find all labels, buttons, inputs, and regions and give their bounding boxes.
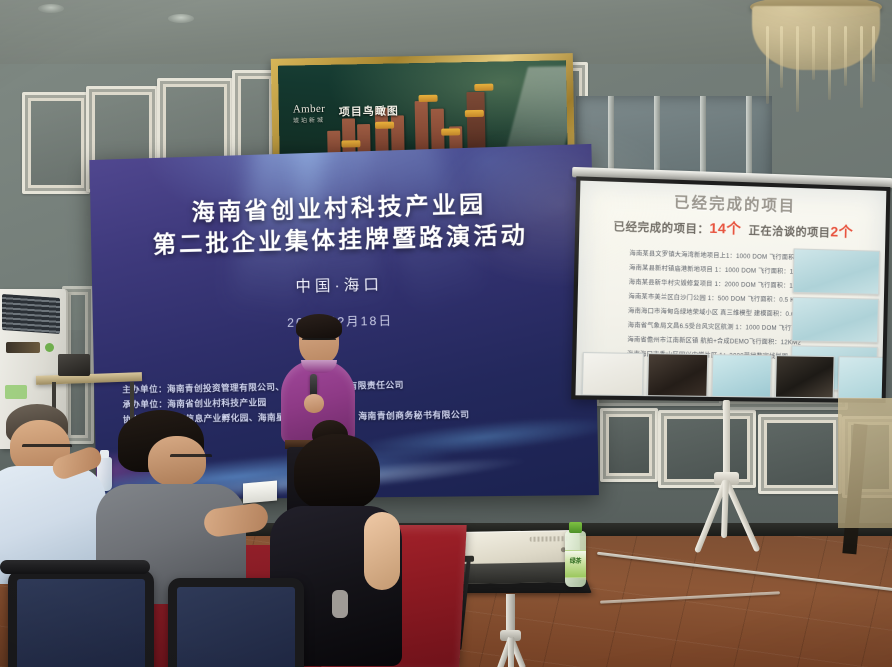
- projection-screen: 已经完成的项目 已经完成的项目：14个 正在洽谈的项目2个 海南某县文罗镇大海湾…: [571, 176, 890, 403]
- projector-front-panel: [455, 562, 580, 584]
- artwork-callout-tag: [375, 122, 394, 129]
- artwork-brand-logo: Amber 琥珀新城: [293, 103, 326, 125]
- woman-hair: [294, 434, 380, 510]
- wall-panel: [22, 92, 90, 194]
- artwork-caption: 项目鸟瞰图: [339, 102, 399, 119]
- ceiling-downlight: [168, 14, 194, 23]
- air-conditioner-power-led: [45, 343, 54, 352]
- slide-thumbnail: [793, 248, 880, 294]
- chandelier-strand: [860, 26, 863, 108]
- chandelier-strand: [766, 26, 769, 104]
- screen-tripod-pole: [723, 400, 730, 478]
- slide-thumbnail: [791, 297, 878, 343]
- crystal-chandelier: [744, 0, 892, 114]
- slide-thumbnail-row: [582, 352, 891, 399]
- side-board-panel: [838, 398, 892, 528]
- slide-thumbnail: [711, 354, 771, 397]
- ceiling-downlight: [38, 4, 64, 13]
- artwork-callout-tag: [441, 128, 460, 135]
- bottle-cap: [569, 522, 582, 533]
- woman-shoulder-detail: [332, 590, 348, 618]
- presenter-hair: [296, 314, 342, 340]
- slide-counter-middle: 正在洽谈的项目: [748, 225, 830, 239]
- wall-panel: [600, 408, 658, 482]
- wall-panel: [758, 414, 842, 494]
- side-table-equipment: [58, 354, 90, 376]
- artwork-brand-sub: 琥珀新城: [293, 115, 326, 125]
- slide-counter-talking: 2个: [830, 223, 853, 240]
- bottle-label-text: 绿茶: [565, 556, 586, 565]
- projector-tripod-pole: [506, 594, 515, 634]
- projector: [455, 530, 581, 584]
- slide-counter-prefix: 已经完成的项目：: [613, 221, 709, 236]
- artwork-callout-tag: [341, 140, 360, 147]
- chandelier-strand: [812, 26, 815, 80]
- artwork-brand-name: Amber: [293, 103, 326, 116]
- slide-thumbnail: [582, 352, 644, 396]
- projector-tripod-leg: [508, 638, 514, 667]
- artwork-callout-tag: [465, 110, 484, 117]
- chandelier-strand: [796, 26, 799, 112]
- air-conditioner-grille: [2, 294, 60, 334]
- slide-body: 海南某县文罗镇大海湾新地项目上1：1000 DOM 飞行面积：6.89 KM2 …: [575, 240, 885, 401]
- slide-thumbnail: [775, 355, 835, 398]
- artwork-callout-tag: [474, 84, 493, 91]
- chandelier-strand: [780, 26, 783, 88]
- slide-thumbnail: [838, 356, 891, 399]
- screen-surface: 已经完成的项目 已经完成的项目：14个 正在洽谈的项目2个 海南某县文罗镇大海湾…: [571, 176, 890, 403]
- event-photo-scene: Amber 琥珀新城 项目鸟瞰图 海南省创业村科技产业园 第二批企业集体挂牌暨路…: [0, 0, 892, 667]
- artwork-callout-tag: [419, 95, 438, 102]
- chandelier-strand: [872, 26, 875, 82]
- banner-title: 海南省创业村科技产业园 第二批企业集体挂牌暨路演活动: [90, 185, 593, 262]
- audience-chair: [8, 570, 154, 667]
- slide-thumbnail: [647, 353, 708, 397]
- chair-armrest: [0, 560, 150, 574]
- air-conditioner-sticker: [5, 385, 27, 399]
- wall-panel: [658, 410, 756, 488]
- audience-chair: [168, 578, 304, 667]
- projector-vent: [530, 536, 570, 542]
- audience-glasses: [170, 454, 212, 463]
- presenter-glasses: [302, 338, 336, 346]
- woman-arm: [364, 512, 400, 590]
- chandelier-strand: [844, 26, 847, 86]
- air-conditioner-display: [6, 342, 40, 353]
- slide-counter: 已经完成的项目：14个 正在洽谈的项目2个: [579, 214, 885, 243]
- presenter-hand: [304, 394, 324, 413]
- slide-counter-done: 14个: [709, 220, 741, 237]
- audience-glasses: [22, 444, 72, 453]
- chandelier-strand: [828, 26, 831, 100]
- green-tea-bottle: 绿茶: [565, 531, 586, 587]
